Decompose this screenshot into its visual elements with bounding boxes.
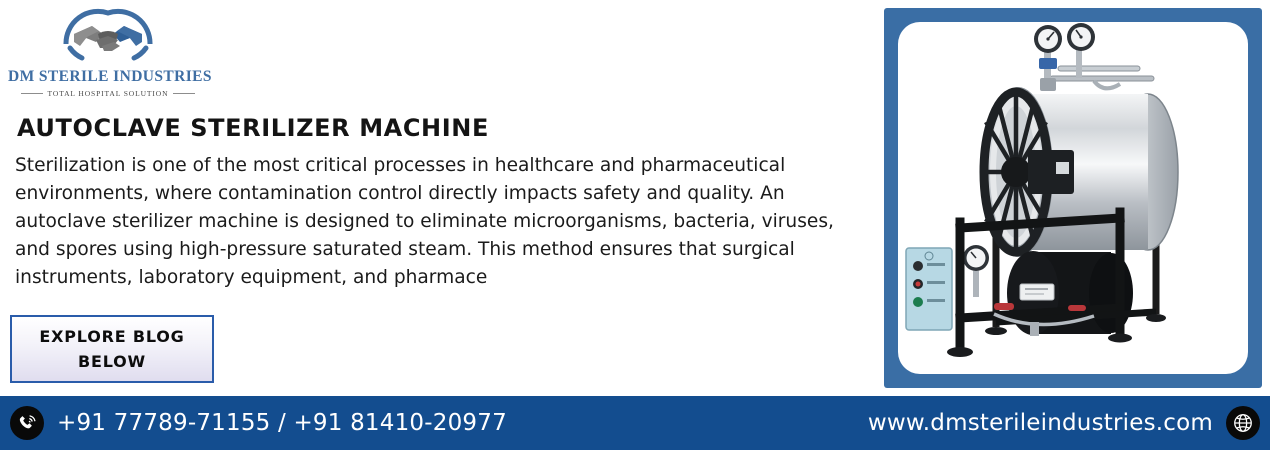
footer-phone-group[interactable]: +91 77789-71155 / +91 81410-20977 bbox=[10, 406, 507, 440]
control-panel bbox=[906, 248, 952, 330]
blue-valve-block bbox=[1039, 58, 1057, 69]
company-name: DM STERILE INDUSTRIES bbox=[8, 68, 208, 86]
website-url-text[interactable]: www.dmsterileindustries.com bbox=[868, 410, 1213, 436]
handshake-circle-icon bbox=[56, 4, 160, 66]
lower-gauge bbox=[963, 245, 989, 297]
cta-line-two: BELOW bbox=[78, 349, 146, 374]
globe-icon[interactable] bbox=[1226, 406, 1260, 440]
phone-number-text[interactable]: +91 77789-71155 / +91 81410-20977 bbox=[57, 410, 507, 436]
red-valve-handle bbox=[994, 303, 1014, 310]
description-paragraph: Sterilization is one of the most critica… bbox=[15, 152, 860, 292]
tagline-rule-left bbox=[21, 93, 43, 94]
company-tagline: TOTAL HOSPITAL SOLUTION bbox=[48, 89, 169, 98]
company-logo: DM STERILE INDUSTRIES TOTAL HOSPITAL SOL… bbox=[8, 4, 208, 98]
explore-blog-button[interactable]: EXPLORE BLOG BELOW bbox=[10, 315, 214, 383]
company-tagline-row: TOTAL HOSPITAL SOLUTION bbox=[8, 89, 208, 98]
cta-line-one: EXPLORE BLOG bbox=[39, 324, 184, 349]
pressure-gauge-right bbox=[1067, 23, 1095, 51]
tagline-rule-right bbox=[173, 93, 195, 94]
autoclave-sterilizer-image bbox=[898, 22, 1248, 374]
steam-piping bbox=[1039, 44, 1154, 91]
pressure-gauge-left bbox=[1034, 25, 1062, 53]
footer-website-group[interactable]: www.dmsterileindustries.com bbox=[868, 406, 1260, 440]
drum-label bbox=[1020, 284, 1054, 300]
contact-footer-bar: +91 77789-71155 / +91 81410-20977 www.dm… bbox=[0, 396, 1270, 450]
phone-ringing-icon[interactable] bbox=[10, 406, 44, 440]
product-image-frame bbox=[898, 22, 1248, 374]
page-title: AUTOCLAVE STERILIZER MACHINE bbox=[17, 114, 489, 142]
promotional-banner: DM STERILE INDUSTRIES TOTAL HOSPITAL SOL… bbox=[0, 0, 1270, 450]
product-image-panel bbox=[884, 8, 1262, 388]
